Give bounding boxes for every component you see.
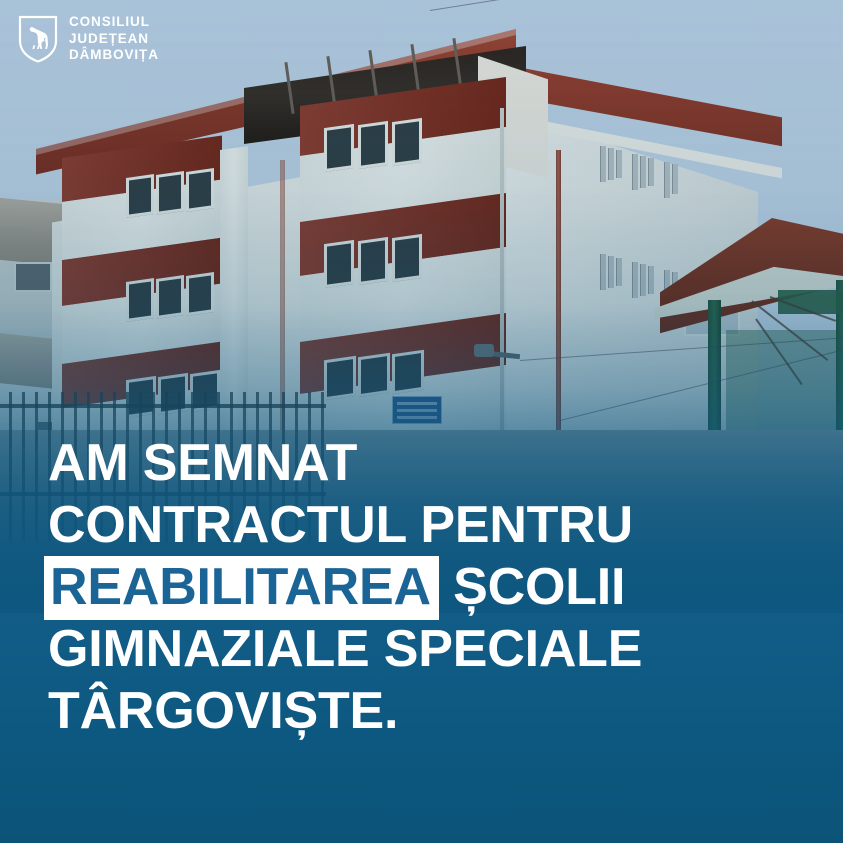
headline-line-1: AM SEMNAT: [48, 432, 808, 494]
headline-line-5: TÂRGOVIȘTE.: [48, 680, 808, 742]
brand-logo[interactable]: CONSILIUL JUDEȚEAN DÂMBOVIȚA: [18, 14, 159, 64]
headline-line-2: CONTRACTUL PENTRU: [48, 494, 808, 556]
headline-line-3: REABILITAREA ȘCOLII: [48, 556, 808, 618]
headline-line-4: GIMNAZIALE SPECIALE: [48, 618, 808, 680]
headline-highlight: REABILITAREA: [44, 556, 439, 620]
headline-line-3-rest: ȘCOLII: [453, 558, 625, 616]
headline: AM SEMNAT CONTRACTUL PENTRU REABILITAREA…: [48, 432, 808, 742]
deer-shield-icon: [18, 15, 58, 63]
brand-name: CONSILIUL JUDEȚEAN DÂMBOVIȚA: [69, 14, 159, 64]
social-media-card: CONSILIUL JUDEȚEAN DÂMBOVIȚA AM SEMNAT C…: [0, 0, 843, 843]
